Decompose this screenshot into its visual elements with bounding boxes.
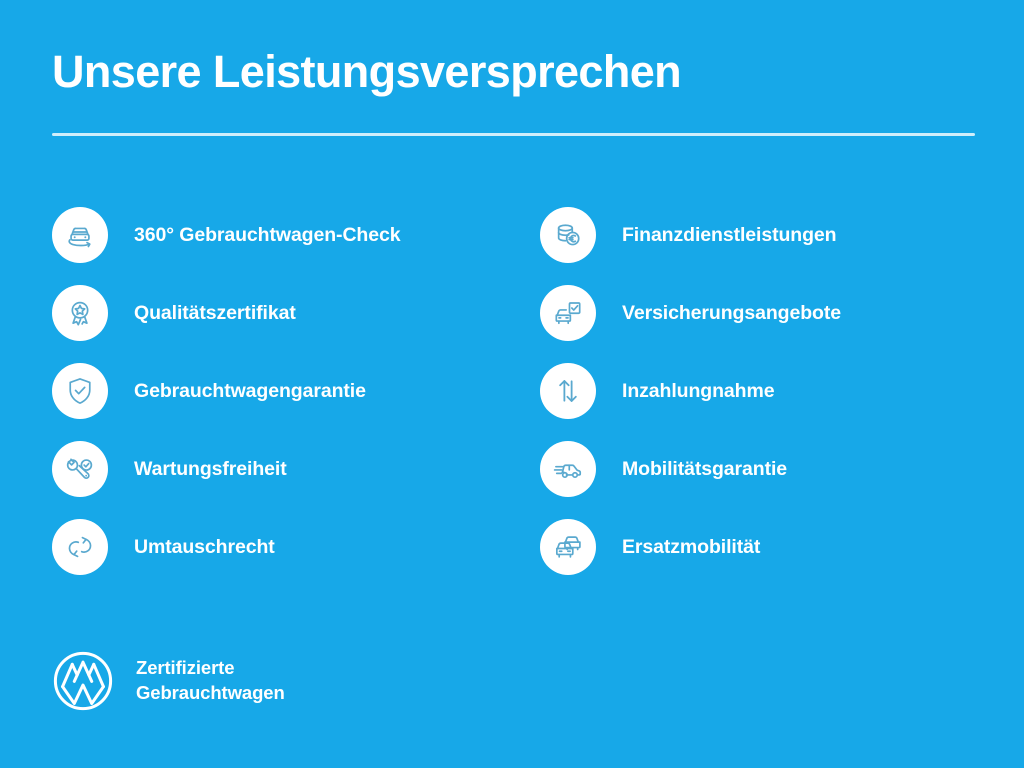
benefit-column-right: Finanzdienstleistungen Versicherungsange… <box>520 196 1024 586</box>
benefit-label: Versicherungsangebote <box>622 302 841 325</box>
shield-check-icon <box>52 363 108 419</box>
arrows-up-down-icon <box>540 363 596 419</box>
page-title: Unsere Leistungsversprechen <box>52 48 976 97</box>
two-cars-icon <box>540 519 596 575</box>
benefit-item[interactable]: Mobilitätsgarantie <box>540 430 1024 508</box>
header: Unsere Leistungsversprechen <box>52 48 976 97</box>
brand-line-1: Zertifizierte <box>136 657 234 678</box>
benefit-label: Ersatzmobilität <box>622 536 760 559</box>
benefit-label: Gebrauchtwagengarantie <box>134 380 366 403</box>
benefit-label: Finanzdienstleistungen <box>622 224 836 247</box>
benefit-item[interactable]: Inzahlungnahme <box>540 352 1024 430</box>
benefit-column-left: 360° Gebrauchtwagen-Check Qualitätszerti… <box>0 196 520 586</box>
car-360-check-icon <box>52 207 108 263</box>
benefit-columns: 360° Gebrauchtwagen-Check Qualitätszerti… <box>0 196 1024 586</box>
benefit-item[interactable]: Wartungsfreiheit <box>52 430 520 508</box>
benefit-item[interactable]: Gebrauchtwagengarantie <box>52 352 520 430</box>
car-motion-icon <box>540 441 596 497</box>
benefit-label: Umtauschrecht <box>134 536 275 559</box>
brand-text: Zertifizierte Gebrauchtwagen <box>136 656 285 706</box>
benefit-item[interactable]: Umtauschrecht <box>52 508 520 586</box>
brand-lockup: Zertifizierte Gebrauchtwagen <box>52 650 285 712</box>
benefit-item[interactable]: Versicherungsangebote <box>540 274 1024 352</box>
award-rosette-icon <box>52 285 108 341</box>
benefit-item[interactable]: Finanzdienstleistungen <box>540 196 1024 274</box>
benefit-item[interactable]: 360° Gebrauchtwagen-Check <box>52 196 520 274</box>
benefit-item[interactable]: Ersatzmobilität <box>540 508 1024 586</box>
exchange-arrows-icon <box>52 519 108 575</box>
benefit-label: Mobilitätsgarantie <box>622 458 787 481</box>
benefit-item[interactable]: Qualitätszertifikat <box>52 274 520 352</box>
car-document-check-icon <box>540 285 596 341</box>
benefit-label: Inzahlungnahme <box>622 380 774 403</box>
benefit-label: Qualitätszertifikat <box>134 302 296 325</box>
brand-line-2: Gebrauchtwagen <box>136 682 285 703</box>
coins-euro-icon <box>540 207 596 263</box>
benefit-label: Wartungsfreiheit <box>134 458 287 481</box>
title-divider <box>52 133 975 136</box>
benefit-label: 360° Gebrauchtwagen-Check <box>134 224 400 247</box>
volkswagen-logo-icon <box>52 650 114 712</box>
wrench-check-icon <box>52 441 108 497</box>
promise-poster: Unsere Leistungsversprechen <box>0 0 1024 768</box>
